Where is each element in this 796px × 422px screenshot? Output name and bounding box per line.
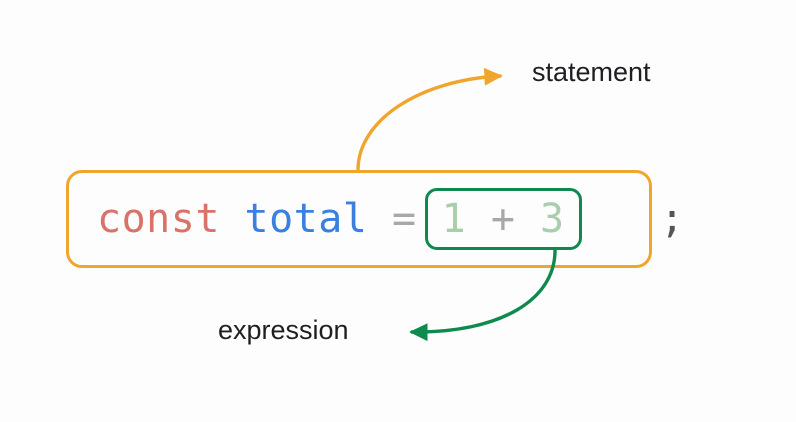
code-token-assign-operator: = [392,196,417,242]
code-line: const total = 1 + 3 [69,173,649,265]
expression-label: expression [218,315,349,346]
code-token-space [220,196,245,242]
diagram-canvas: const total = 1 + 3 ; [0,0,796,422]
code-token-keyword: const [97,196,220,242]
code-token-plus-operator: + [491,196,516,242]
statement-label: statement [532,57,651,88]
code-token-space [367,196,392,242]
code-token-space [515,196,540,242]
expression-highlight-box: 1 + 3 [425,188,582,250]
code-token-space [466,196,491,242]
code-token-identifier: total [245,196,368,242]
statement-highlight-box: const total = 1 + 3 [66,170,652,268]
code-token-terminator: ; [660,170,684,268]
statement-callout-arrow [358,76,500,170]
code-token-operand-left: 1 [442,196,467,242]
code-token-operand-right: 3 [540,196,565,242]
